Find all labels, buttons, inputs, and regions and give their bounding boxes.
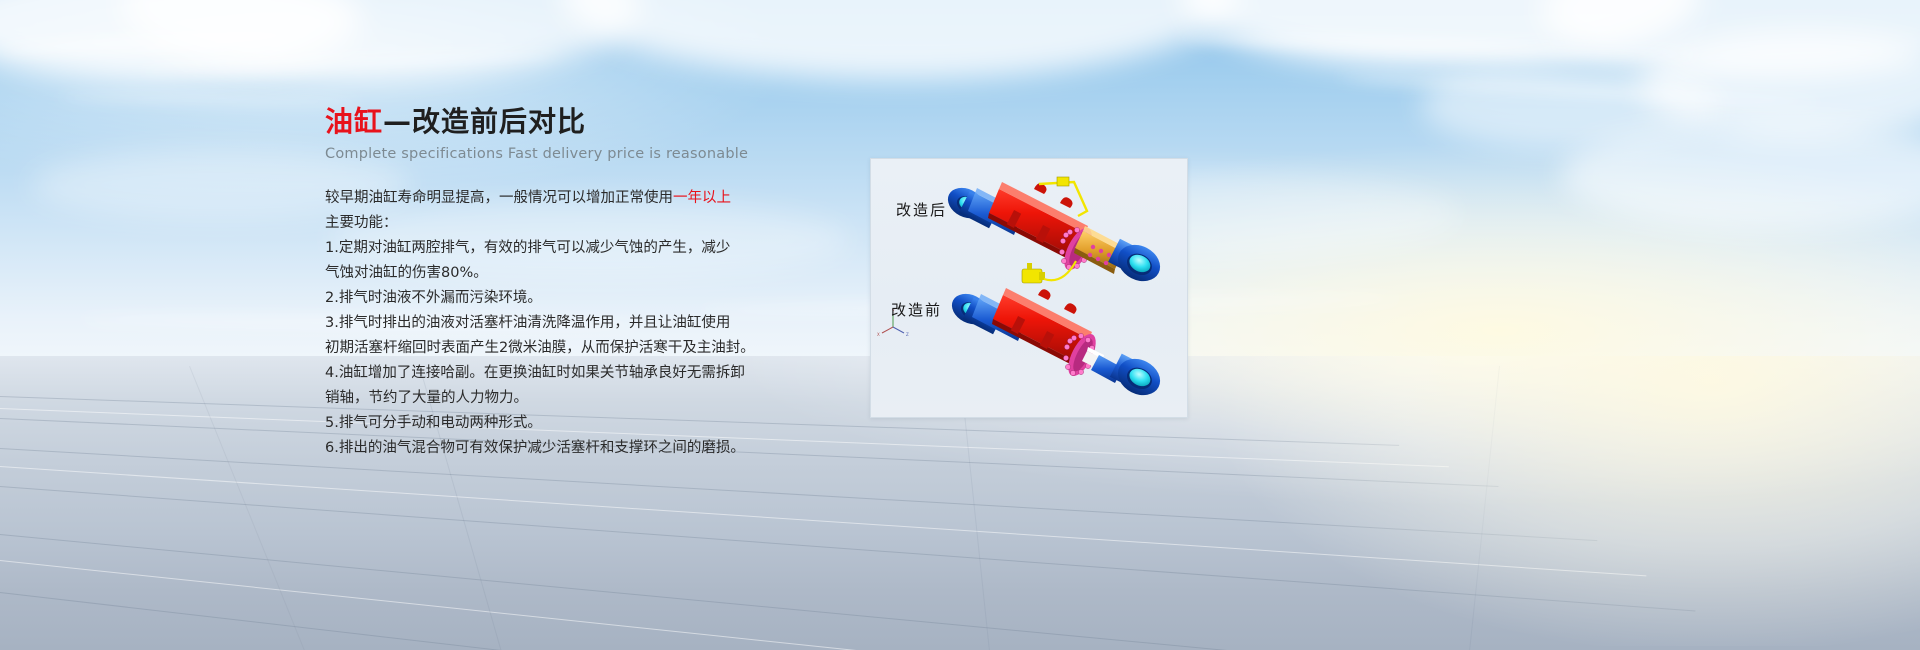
- intro-prefix: 较早期油缸寿命明显提高，一般情况可以增加正常使用: [325, 190, 673, 206]
- intro-line: 较早期油缸寿命明显提高，一般情况可以增加正常使用一年以上: [325, 186, 965, 211]
- svg-text:Z: Z: [906, 332, 909, 337]
- page-title: 油缸—改造前后对比: [325, 104, 965, 139]
- cylinder-after: [943, 177, 1167, 288]
- product-image-panel: Y X Z 改造后 改造前: [870, 158, 1188, 418]
- label-after: 改造后: [896, 199, 947, 220]
- feature-line: 4.油缸增加了连接哈副。在更换油缸时如果关节轴承良好无需拆卸: [325, 361, 965, 386]
- page-subtitle: Complete specifications Fast delivery pr…: [325, 146, 965, 162]
- feature-line: 3.排气时排出的油液对活塞杆油清洗降温作用，并且让油缸使用: [325, 311, 965, 336]
- feature-line: 初期活塞杆缩回时表面产生2微米油膜，从而保护活寒干及主油封。: [325, 336, 965, 361]
- feature-line: 销轴，节约了大量的人力物力。: [325, 386, 965, 411]
- feature-line: 6.排出的油气混合物可有效保护减少活塞杆和支撑环之间的磨损。: [325, 436, 965, 461]
- feature-line: 气蚀对油缸的伤害80%。: [325, 261, 965, 286]
- svg-text:X: X: [877, 332, 880, 337]
- page-title-rest: —改造前后对比: [383, 105, 586, 138]
- cylinder-before: [947, 288, 1167, 402]
- cylinder-comparison-diagram: Y X Z: [871, 159, 1188, 418]
- feature-line: 2.排气时油液不外漏而污染环境。: [325, 286, 965, 311]
- hero-banner: 油缸—改造前后对比 Complete specifications Fast d…: [0, 0, 1920, 650]
- feature-description: 较早期油缸寿命明显提高，一般情况可以增加正常使用一年以上 主要功能： 1.定期对…: [325, 186, 965, 461]
- banner-content: 油缸—改造前后对比 Complete specifications Fast d…: [325, 104, 965, 461]
- page-title-accent: 油缸: [325, 105, 383, 138]
- feature-line: 1.定期对油缸两腔排气，有效的排气可以减少气蚀的产生，减少: [325, 236, 965, 261]
- intro-highlight: 一年以上: [673, 190, 731, 206]
- feature-line: 5.排气可分手动和电动两种形式。: [325, 411, 965, 436]
- sun-glow: [1220, 356, 1920, 646]
- features-label: 主要功能：: [325, 211, 965, 236]
- label-before: 改造前: [891, 299, 942, 320]
